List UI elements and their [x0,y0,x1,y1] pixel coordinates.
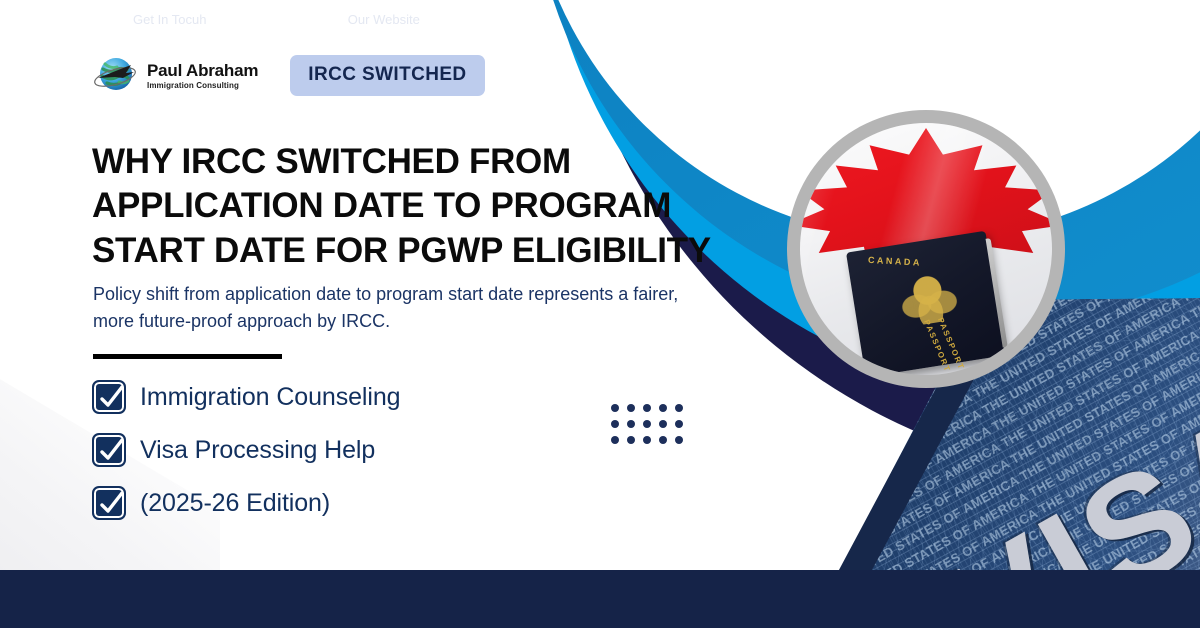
list-item-label: (2025-26 Edition) [140,489,330,518]
list-item: (2025-26 Edition) [92,486,400,520]
contact-website[interactable]: Our Website www.pa-ic.com [308,12,449,46]
dot [659,420,667,428]
contact-website-label: Our Website [348,12,449,28]
contact-email-value[interactable]: contact@pa-ic.com [133,28,262,46]
list-item-label: Immigration Counseling [140,383,400,412]
dot [627,420,635,428]
banner-content: Paul Abraham Immigration Consulting IRCC… [0,0,1200,628]
brand-name: Paul Abraham [147,62,258,79]
dot [643,404,651,412]
contact-phone-text: Get In Tocuh contact@pa-ic.com [133,12,262,46]
dot [675,404,683,412]
promo-banner: THE UNITED STATES OF AMERICA THE UNITED … [0,0,1200,628]
dot [643,420,651,428]
brand-wordmark: Paul Abraham Immigration Consulting [147,62,258,90]
dot [627,404,635,412]
dot [659,404,667,412]
contact-website-text: Our Website www.pa-ic.com [348,12,449,46]
brand-logo[interactable]: Paul Abraham Immigration Consulting [93,52,258,99]
dot [611,420,619,428]
dot [675,436,683,444]
footer-contacts: Get In Tocuh contact@pa-ic.com Our Websi… [93,0,449,58]
globe-airplane-icon [93,52,140,99]
globe-icon [308,15,337,44]
list-item-label: Visa Processing Help [140,436,375,465]
list-item: Immigration Counseling [92,380,400,414]
dot [659,436,667,444]
dot [643,436,651,444]
status-badge[interactable]: IRCC SWITCHED [290,55,484,96]
checkbox-checked-icon[interactable] [92,380,126,414]
brand-tagline: Immigration Consulting [147,82,258,90]
page-title: WHY IRCC SWITCHED FROM APPLICATION DATE … [92,140,752,273]
footer-bar [0,570,1200,628]
dot [611,404,619,412]
top-bar: Paul Abraham Immigration Consulting IRCC… [93,52,485,99]
phone-icon [93,15,122,44]
dot [675,420,683,428]
contact-phone[interactable]: Get In Tocuh contact@pa-ic.com [93,12,262,46]
dot [627,436,635,444]
checkbox-checked-icon[interactable] [92,433,126,467]
list-item: Visa Processing Help [92,433,400,467]
dot-grid-decoration [611,404,683,444]
feature-checklist: Immigration Counseling Visa Processing H… [92,380,400,520]
checkbox-checked-icon[interactable] [92,486,126,520]
subtitle-text: Policy shift from application date to pr… [93,281,713,336]
divider [93,354,282,359]
contact-phone-label: Get In Tocuh [133,12,262,28]
contact-website-value[interactable]: www.pa-ic.com [348,28,449,46]
dot [611,436,619,444]
